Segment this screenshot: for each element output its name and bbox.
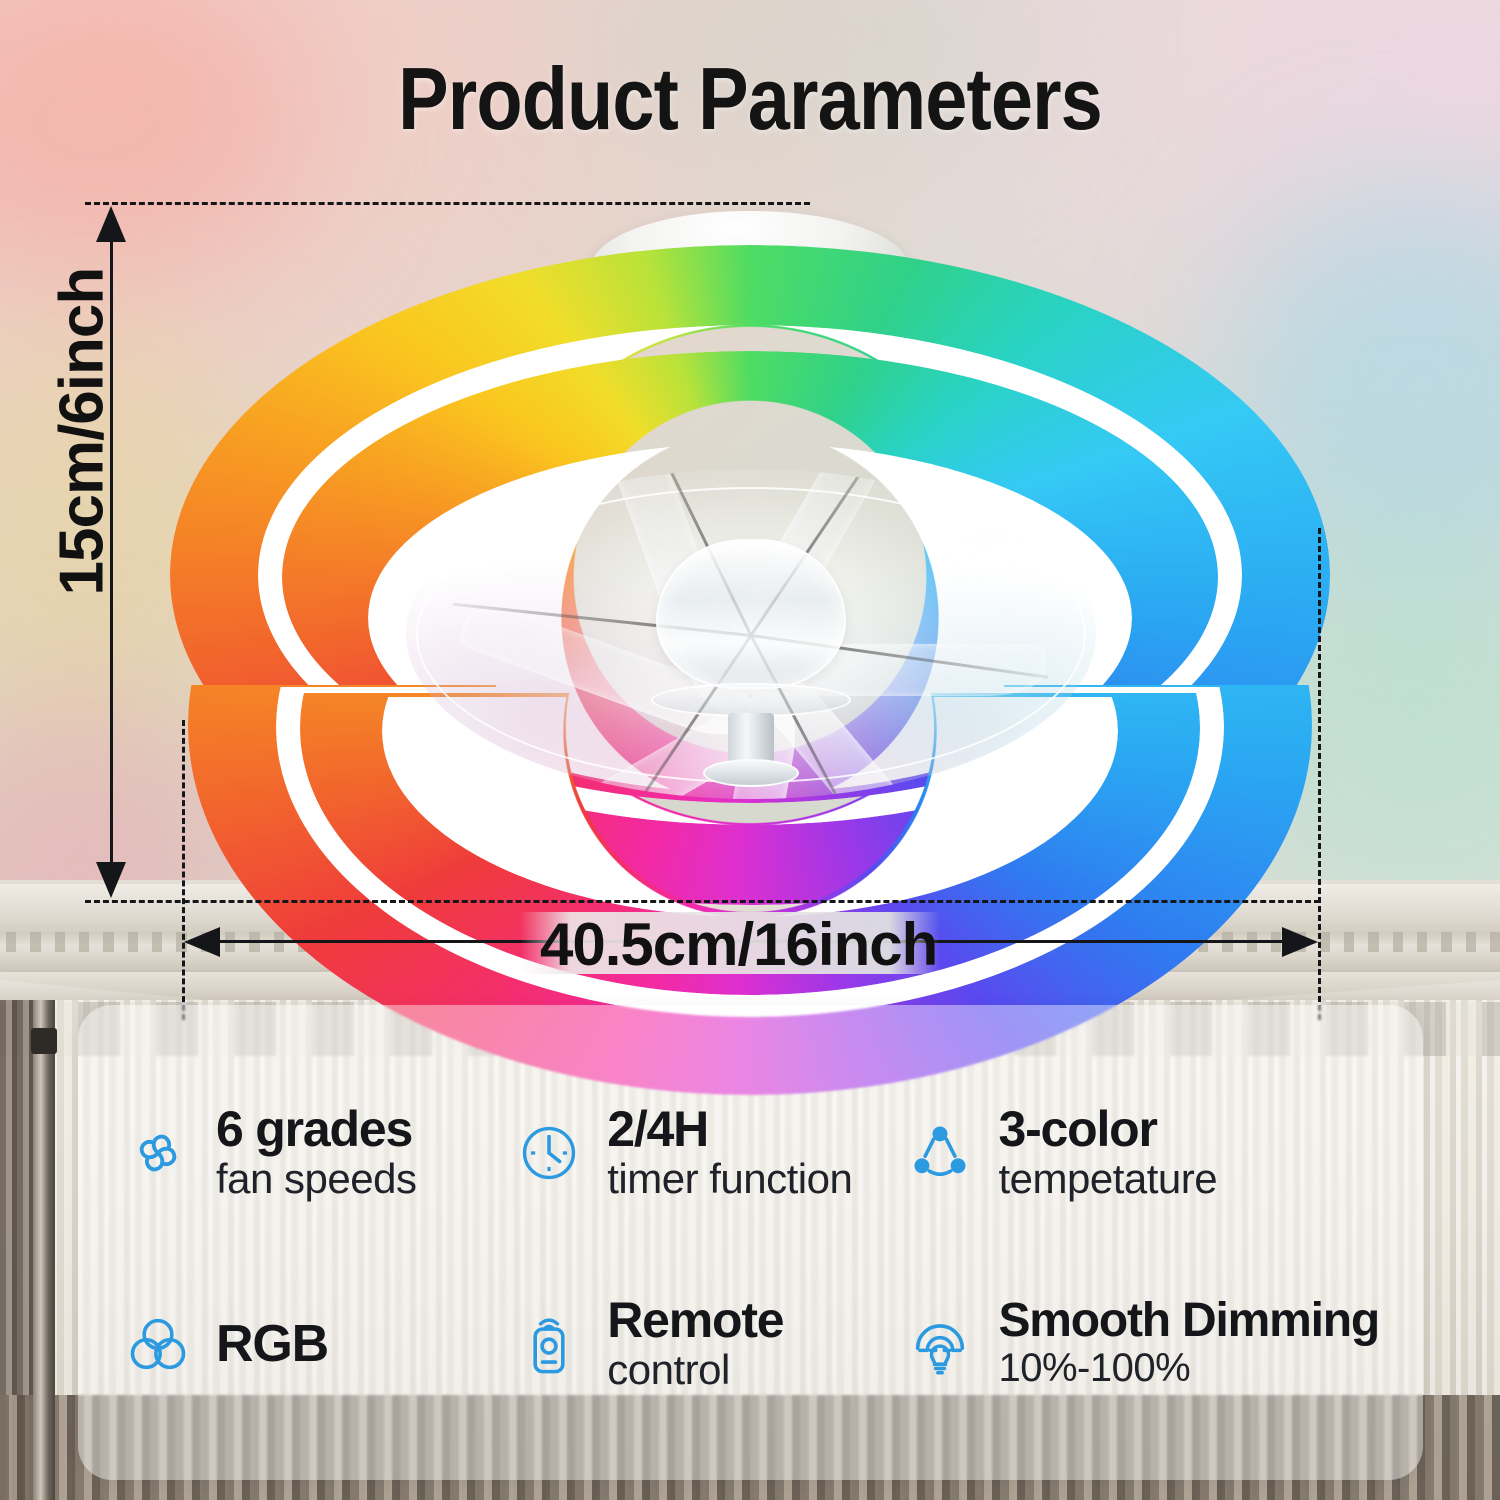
page-title: Product Parameters <box>105 48 1395 150</box>
feature-subtitle: control <box>607 1346 783 1393</box>
feature-title: Remote <box>607 1295 783 1346</box>
curtain-rod-ring <box>31 1028 57 1054</box>
feature-timer: 2/4H timer function <box>513 1104 894 1202</box>
feature-subtitle: 10%-100% <box>998 1346 1379 1391</box>
feature-color-temperature: 3-color tempetature <box>904 1104 1379 1202</box>
dimension-extension-bottom <box>85 900 1320 903</box>
feature-title: Smooth Dimming <box>998 1297 1379 1346</box>
fan-blade-assembly <box>406 469 1096 799</box>
feature-fan-speeds: 6 grades fan speeds <box>122 1104 503 1202</box>
width-arrow-right <box>1282 927 1318 957</box>
remote-control-icon <box>513 1308 585 1380</box>
dimming-bulb-icon <box>904 1308 976 1380</box>
rgb-circles-icon <box>122 1308 194 1380</box>
product-scene: Product Parameters 15cm/6inch 40.5cm/16i… <box>0 0 1500 1500</box>
dimension-extension-right <box>1318 528 1321 1020</box>
fan-motor-hub <box>656 539 846 689</box>
feature-rgb: RGB <box>122 1308 503 1380</box>
feature-subtitle: timer function <box>607 1155 852 1202</box>
ceiling-fan-product <box>170 205 1330 915</box>
feature-smooth-dimming: Smooth Dimming 10%-100% <box>904 1297 1379 1391</box>
fan-blades-icon <box>122 1117 194 1189</box>
fan-hub-band <box>651 683 851 717</box>
feature-title: RGB <box>216 1318 328 1371</box>
feature-title: 3-color <box>998 1104 1217 1155</box>
height-arrow-up <box>96 206 126 242</box>
feature-remote: Remote control <box>513 1295 894 1393</box>
height-arrow-down <box>96 862 126 898</box>
feature-title: 2/4H <box>607 1104 852 1155</box>
fan-hub-stem-ring <box>703 759 799 787</box>
three-nodes-icon <box>904 1117 976 1189</box>
dimension-extension-top <box>85 202 810 205</box>
feature-subtitle: tempetature <box>998 1155 1217 1202</box>
clock-icon <box>513 1117 585 1189</box>
feature-title: 6 grades <box>216 1104 417 1155</box>
features-panel: 6 grades fan speeds 2/4H timer function <box>78 1005 1423 1480</box>
width-dimension-label: 40.5cm/16inch <box>540 910 937 979</box>
dimension-extension-left <box>182 720 185 1020</box>
feature-subtitle: fan speeds <box>216 1155 417 1202</box>
curtain-rod <box>33 1000 55 1500</box>
height-dimension-label: 15cm/6inch <box>47 316 118 596</box>
width-arrow-left <box>184 927 220 957</box>
